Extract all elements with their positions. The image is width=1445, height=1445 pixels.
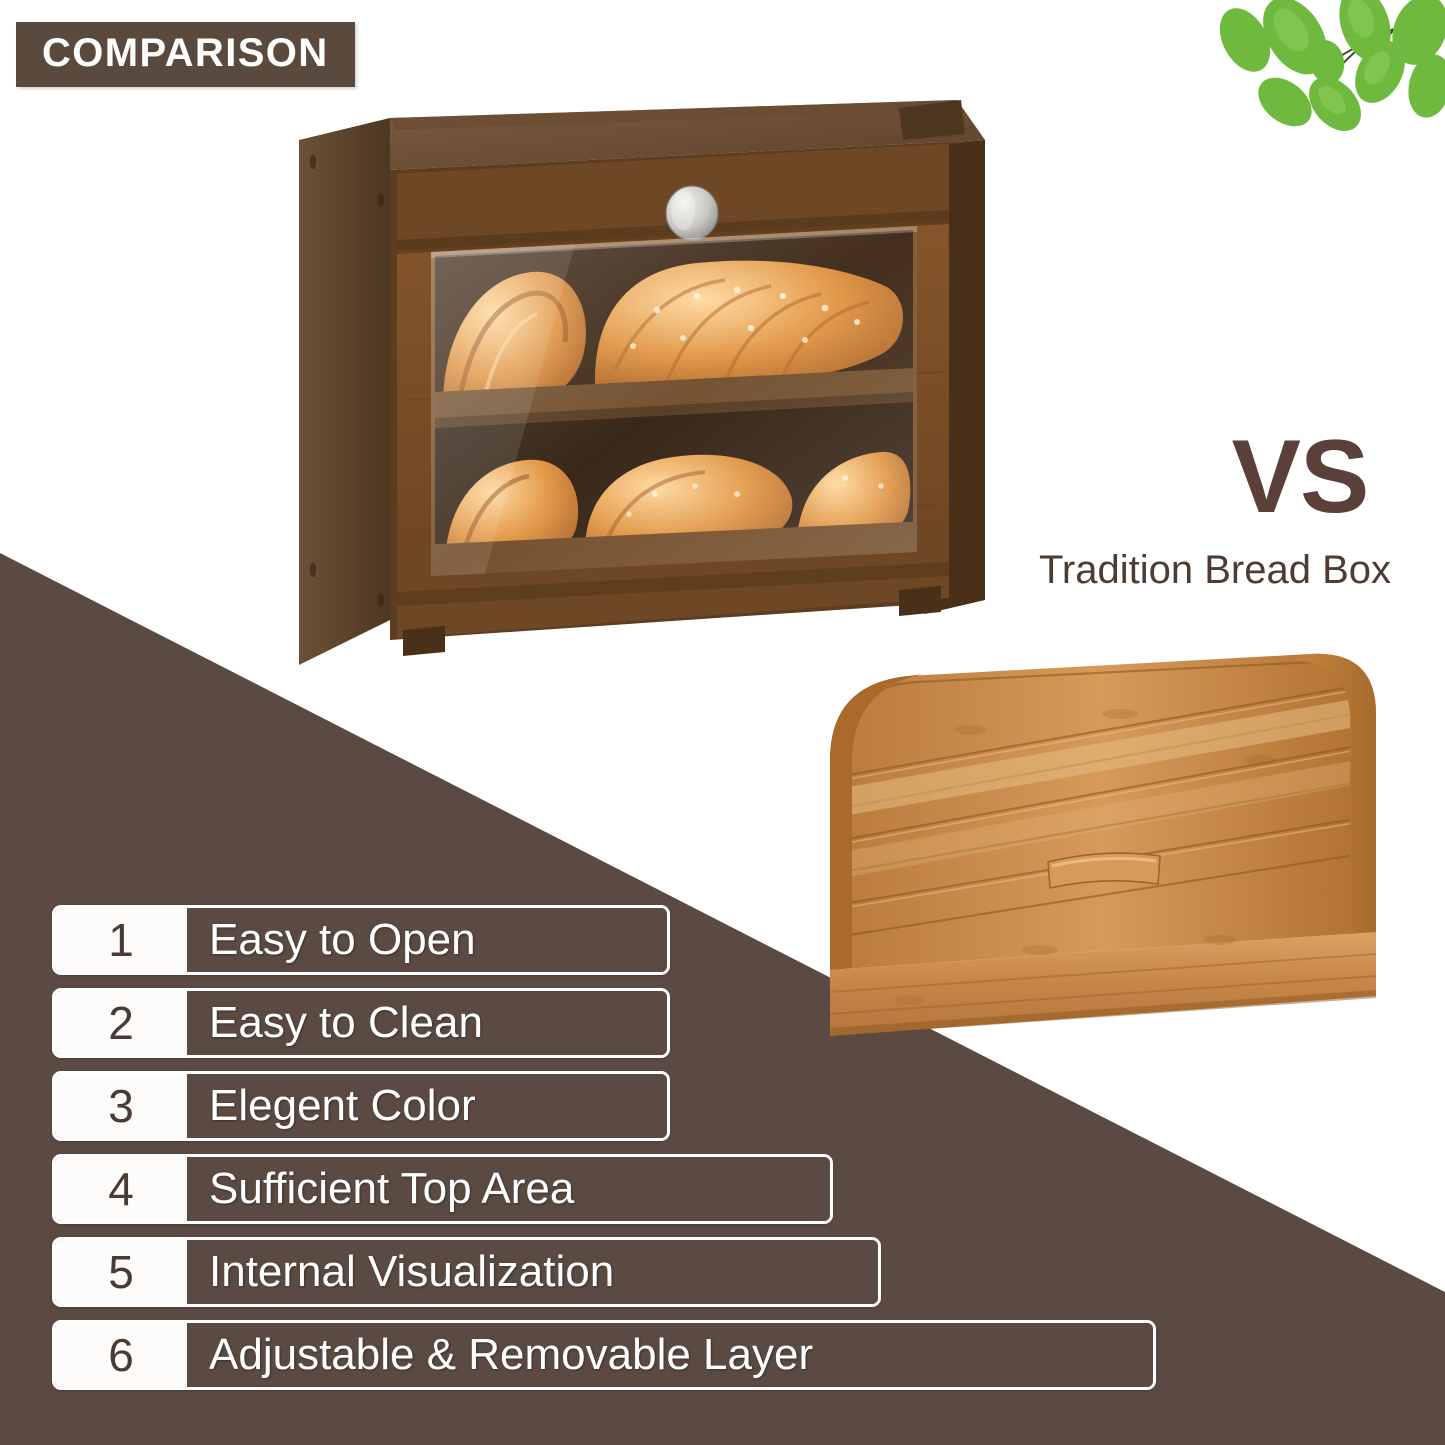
featured-bread-box-image	[285, 100, 995, 690]
feature-row[interactable]: 2 Easy to Clean	[52, 988, 670, 1058]
feature-number: 2	[55, 991, 187, 1055]
vs-label: VS	[1150, 425, 1445, 529]
competitor-label: Tradition Bread Box	[985, 548, 1445, 592]
comparison-infographic: COMPARISON	[0, 0, 1445, 1445]
feature-row[interactable]: 5 Internal Visualization	[52, 1237, 881, 1307]
comparison-banner: COMPARISON	[16, 22, 355, 87]
feature-row[interactable]: 1 Easy to Open	[52, 905, 670, 975]
feature-number: 3	[55, 1074, 187, 1138]
feature-row[interactable]: 6 Adjustable & Removable Layer	[52, 1320, 1156, 1390]
feature-label: Easy to Clean	[187, 991, 667, 1055]
feature-number: 4	[55, 1157, 187, 1221]
feature-label: Internal Visualization	[187, 1240, 878, 1304]
feature-label: Easy to Open	[187, 908, 667, 972]
feature-list: 1 Easy to Open 2 Easy to Clean 3 Elegent…	[52, 905, 1156, 1403]
green-leaves-branch-icon	[1135, 0, 1445, 170]
feature-label: Sufficient Top Area	[187, 1157, 830, 1221]
feature-label: Adjustable & Removable Layer	[187, 1323, 1153, 1387]
feature-number: 1	[55, 908, 187, 972]
feature-row[interactable]: 4 Sufficient Top Area	[52, 1154, 833, 1224]
feature-row[interactable]: 3 Elegent Color	[52, 1071, 670, 1141]
feature-number: 5	[55, 1240, 187, 1304]
feature-label: Elegent Color	[187, 1074, 667, 1138]
feature-number: 6	[55, 1323, 187, 1387]
